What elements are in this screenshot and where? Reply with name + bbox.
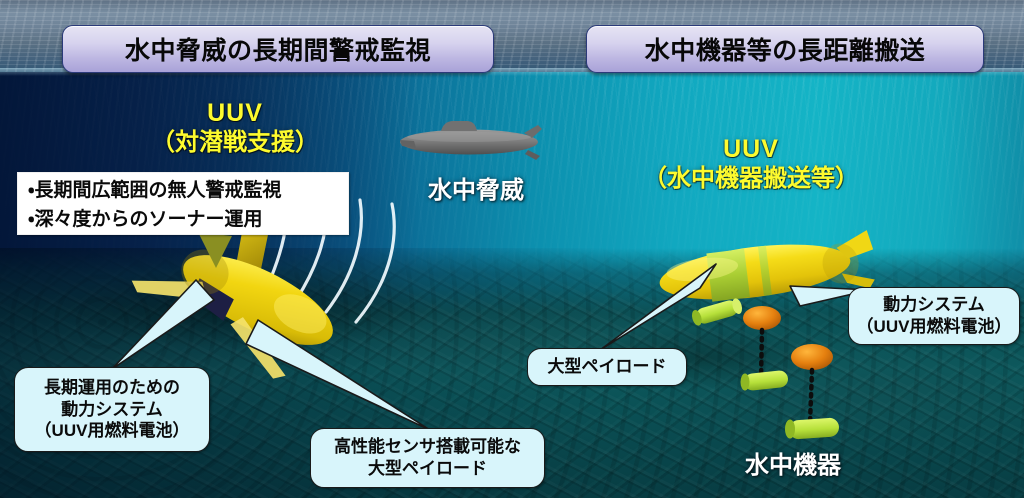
uuv-left-heading-line2: （対潜戦支援） <box>120 129 350 157</box>
title-left-text: 水中脅威の長期間警戒監視 <box>125 31 431 67</box>
feature-line-2: ・深々度からのソーナー運用 <box>28 206 340 235</box>
title-right-text: 水中機器等の長距離搬送 <box>645 31 926 67</box>
diagram-canvas: 水中脅威の長期間警戒監視 水中機器等の長距離搬送 UUV （対潜戦支援） UUV… <box>0 0 1024 498</box>
title-box-left: 水中脅威の長期間警戒監視 <box>62 25 494 73</box>
uuv-right-heading-line1: UUV <box>620 135 882 165</box>
callout-payload-left-line-1: 高性能センサ搭載可能な <box>334 436 521 458</box>
uuv-left-heading-line1: UUV <box>120 99 350 129</box>
title-box-right: 水中機器等の長距離搬送 <box>586 25 984 73</box>
uuv-right-heading-line2: （水中機器搬送等） <box>620 165 882 193</box>
callout-payload-right-line-1: 大型ペイロード <box>548 356 667 378</box>
uuv-right-heading: UUV （水中機器搬送等） <box>620 135 882 193</box>
callout-power-right-line-1: 動力システム <box>883 294 985 316</box>
callout-power-system-left: 長期運用のための 動力システム （UUV用燃料電池） <box>14 367 210 452</box>
callout-power-system-right: 動力システム （UUV用燃料電池） <box>848 287 1020 345</box>
label-underwater-device: 水中機器 <box>745 445 841 480</box>
callout-power-left-line-1: 長期運用のための <box>44 377 180 399</box>
feature-list-box: ・長期間広範囲の無人警戒監視 ・深々度からのソーナー運用 <box>17 172 349 235</box>
callout-power-left-line-3: （UUV用燃料電池） <box>35 420 190 442</box>
callout-payload-left: 高性能センサ搭載可能な 大型ペイロード <box>310 428 545 488</box>
feature-line-1: ・長期間広範囲の無人警戒監視 <box>28 177 340 206</box>
callout-payload-right: 大型ペイロード <box>527 348 687 386</box>
callout-payload-left-line-2: 大型ペイロード <box>368 458 487 480</box>
label-underwater-threat: 水中脅威 <box>428 170 524 205</box>
uuv-left-heading: UUV （対潜戦支援） <box>120 99 350 157</box>
callout-power-left-line-2: 動力システム <box>61 399 163 421</box>
callout-power-right-line-2: （UUV用燃料電池） <box>857 316 1012 338</box>
